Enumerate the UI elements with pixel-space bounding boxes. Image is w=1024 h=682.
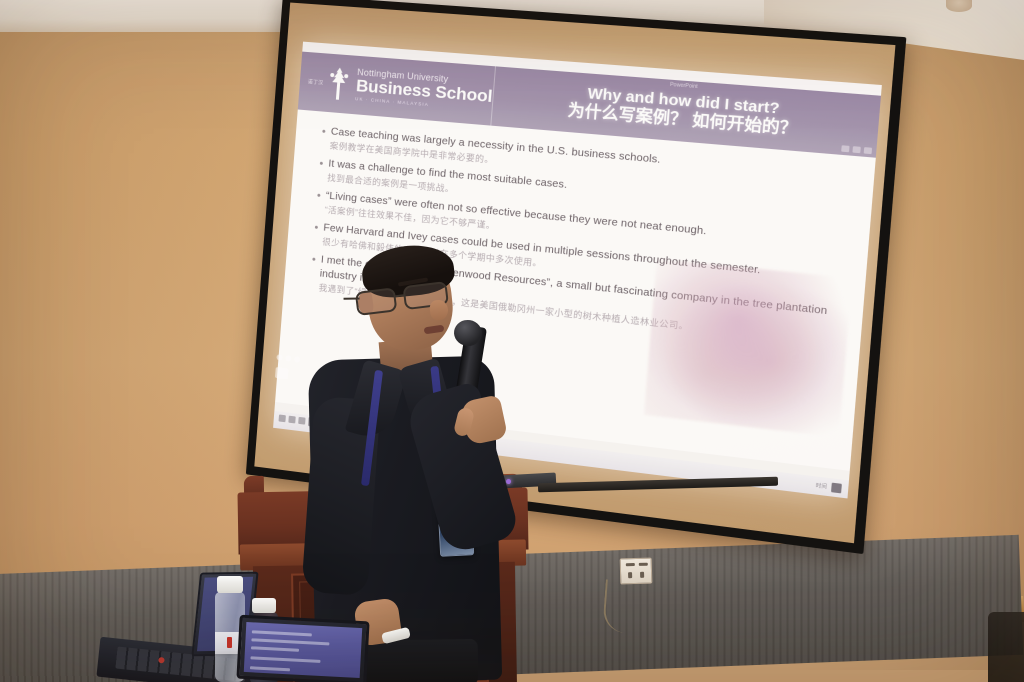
ceiling-fixture-icon bbox=[946, 0, 972, 12]
close-icon[interactable] bbox=[864, 147, 872, 154]
brand-chinese-mark: 诺丁汉 bbox=[308, 78, 324, 86]
glasses-temple bbox=[344, 297, 360, 299]
start-icon[interactable] bbox=[279, 414, 286, 422]
maximize-icon[interactable] bbox=[852, 146, 860, 153]
bottle-cap bbox=[252, 598, 276, 613]
tray-icon[interactable] bbox=[831, 483, 842, 494]
folder-icon[interactable] bbox=[288, 416, 295, 424]
foreground-dark-object bbox=[988, 612, 1024, 682]
presentation-room-photo: 诺丁汉 Nottingham University Business bbox=[0, 0, 1024, 682]
window-title-text: PowerPoint bbox=[670, 82, 698, 90]
taskbar-clock: 时间 bbox=[815, 482, 827, 491]
presenter bbox=[306, 248, 526, 682]
slide-photo-image bbox=[644, 259, 852, 437]
bottle-label-mark bbox=[227, 637, 232, 648]
taskbar-tray[interactable]: 时间 bbox=[815, 481, 842, 494]
nottingham-tree-icon bbox=[326, 66, 351, 102]
laptop-right-lid bbox=[236, 615, 369, 682]
lens-left bbox=[355, 287, 398, 316]
laptop-right[interactable] bbox=[238, 618, 368, 682]
browser-icon[interactable] bbox=[298, 417, 305, 425]
bottle-cap bbox=[217, 576, 243, 593]
window-controls[interactable] bbox=[841, 145, 872, 154]
laptop-right-screen[interactable] bbox=[244, 622, 362, 678]
minimize-icon[interactable] bbox=[841, 145, 849, 152]
